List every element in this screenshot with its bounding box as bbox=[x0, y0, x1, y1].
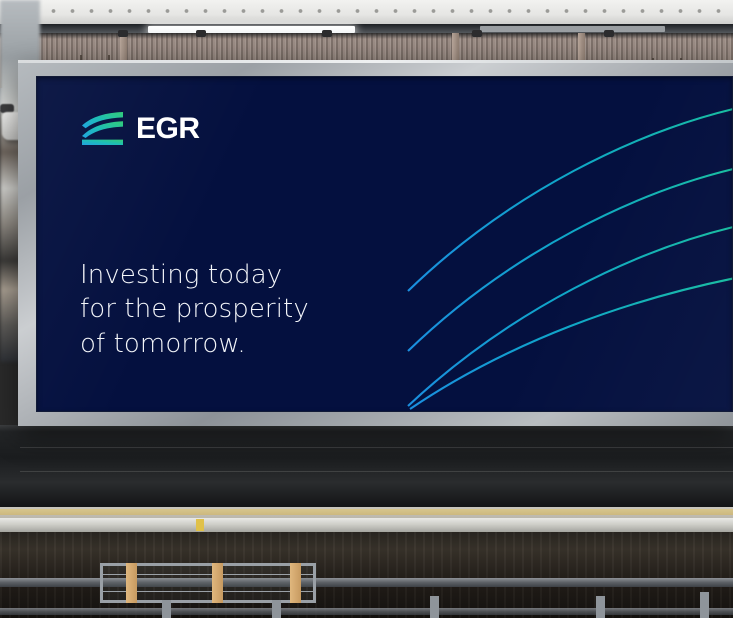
gantry-post bbox=[430, 596, 439, 618]
headline-line-3: of tomorrow. bbox=[80, 327, 309, 361]
station-billboard-scene: EGR Investing today for the prosperity o… bbox=[0, 0, 733, 618]
gantry-post bbox=[596, 596, 605, 618]
canopy-bolt bbox=[322, 30, 332, 37]
egr-wordmark: EGR bbox=[136, 114, 200, 144]
egr-e-mark-icon bbox=[80, 112, 125, 145]
headline-line-2: for the prosperity bbox=[80, 292, 309, 326]
billboard-plinth bbox=[0, 425, 733, 507]
gantry-sleeper bbox=[290, 563, 301, 603]
canopy-bolt bbox=[472, 30, 482, 37]
digital-billboard[interactable]: EGR Investing today for the prosperity o… bbox=[18, 60, 733, 426]
fluorescent-light-strip-secondary bbox=[480, 26, 665, 32]
ceiling-panel bbox=[0, 0, 733, 24]
rivet-row bbox=[0, 6, 733, 16]
canopy-bolt bbox=[118, 30, 128, 37]
plinth-seam bbox=[20, 447, 733, 448]
billboard-frame-highlight bbox=[18, 60, 733, 63]
gantry-post bbox=[700, 592, 709, 618]
gantry-post bbox=[162, 600, 171, 618]
rail-beam-lower bbox=[0, 608, 733, 615]
headline-line-1: Investing today bbox=[80, 258, 309, 292]
gantry-sleeper bbox=[212, 563, 223, 603]
billboard-headline: Investing today for the prosperity of to… bbox=[80, 258, 309, 361]
gantry-sleeper bbox=[126, 563, 137, 603]
plinth-seam bbox=[20, 471, 733, 472]
canopy-bolt bbox=[604, 30, 614, 37]
billboard-screen[interactable]: EGR Investing today for the prosperity o… bbox=[36, 76, 733, 412]
platform-edge bbox=[0, 518, 733, 532]
platform-safety-line bbox=[0, 509, 733, 515]
egr-logo-lockup: EGR bbox=[80, 112, 200, 145]
platform-edge-marker bbox=[196, 519, 204, 531]
canopy-bolt bbox=[196, 30, 206, 37]
gantry-post bbox=[272, 600, 281, 618]
